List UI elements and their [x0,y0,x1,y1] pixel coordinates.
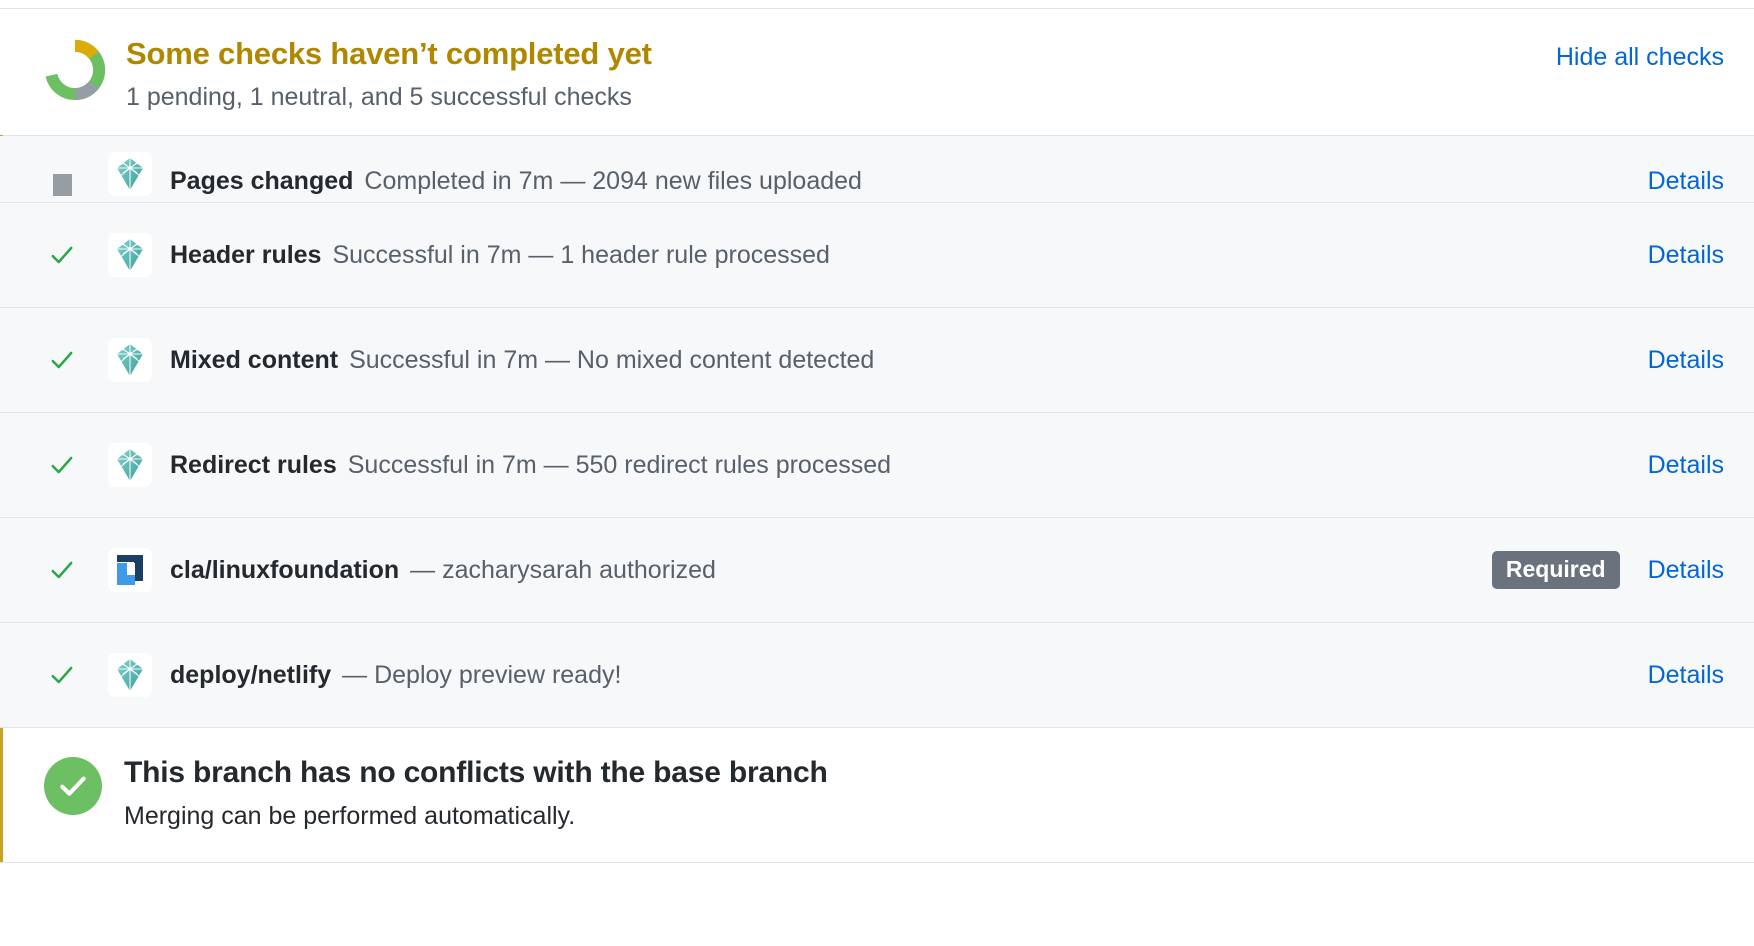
check-description: deploy/netlify— Deploy preview ready! [170,661,1648,690]
success-check-icon [49,452,75,478]
merge-status-section: This branch has no conflicts with the ba… [0,728,1754,862]
check-description: Redirect rulesSuccessful in 7m — 550 red… [170,451,1648,480]
check-row[interactable]: Mixed contentSuccessful in 7m — No mixed… [0,308,1754,413]
check-app-avatar [108,233,152,277]
neutral-status-icon [53,174,72,196]
pull-request-merge-panel: Some checks haven’t completed yet 1 pend… [0,0,1754,946]
check-description: Mixed contentSuccessful in 7m — No mixed… [170,346,1648,375]
check-name: deploy/netlify [170,661,331,689]
success-check-icon [49,242,75,268]
check-app-avatar [108,338,152,382]
check-status-icon [44,557,80,583]
checks-summary-text: Some checks haven’t completed yet 1 pend… [126,35,1556,113]
netlify-icon [110,445,150,485]
check-status-icon [44,174,80,196]
check-details-link[interactable]: Details [1648,661,1724,690]
check-name: Mixed content [170,346,338,374]
check-name: Header rules [170,241,321,269]
check-status-icon [44,452,80,478]
merge-status-title: This branch has no conflicts with the ba… [124,754,1724,792]
check-app-avatar [108,152,152,196]
merge-status-text: This branch has no conflicts with the ba… [124,754,1724,832]
check-details-link[interactable]: Details [1648,241,1724,270]
linux-foundation-icon [110,550,150,590]
check-detail-text: Successful in 7m — No mixed content dete… [349,346,874,374]
checks-summary-subtitle: 1 pending, 1 neutral, and 5 successful c… [126,81,1556,114]
merge-status-subtitle: Merging can be performed automatically. [124,800,1724,833]
success-check-icon [49,557,75,583]
netlify-icon [110,235,150,275]
checks-summary-title: Some checks haven’t completed yet [126,35,1556,74]
netlify-icon [110,154,150,194]
merge-box: Some checks haven’t completed yet 1 pend… [0,8,1754,863]
check-row[interactable]: Redirect rulesSuccessful in 7m — 550 red… [0,413,1754,518]
check-row[interactable]: cla/linuxfoundation— zacharysarah author… [0,518,1754,623]
check-app-avatar [108,443,152,487]
hide-all-checks-link[interactable]: Hide all checks [1556,43,1724,72]
check-name: cla/linuxfoundation [170,556,399,584]
check-circle-icon [44,757,102,815]
check-row[interactable]: Pages changedCompleted in 7m — 2094 new … [0,136,1754,203]
status-badge: Required [1492,551,1620,589]
checks-progress-donut-icon [44,39,106,101]
check-row[interactable]: Header rulesSuccessful in 7m — 1 header … [0,203,1754,308]
check-app-avatar [108,548,152,592]
check-detail-text: Completed in 7m — 2094 new files uploade… [364,167,862,195]
check-description: Pages changedCompleted in 7m — 2094 new … [170,167,1648,196]
check-detail-text: — zacharysarah authorized [410,556,716,584]
check-details-link[interactable]: Details [1648,556,1724,585]
check-detail-text: Successful in 7m — 1 header rule process… [332,241,829,269]
checks-list: Pages changedCompleted in 7m — 2094 new … [0,135,1754,728]
check-status-icon [44,242,80,268]
check-name: Redirect rules [170,451,337,479]
check-description: cla/linuxfoundation— zacharysarah author… [170,556,1492,585]
check-status-icon [44,347,80,373]
check-row[interactable]: deploy/netlify— Deploy preview ready!Det… [0,623,1754,728]
netlify-icon [110,655,150,695]
check-description: Header rulesSuccessful in 7m — 1 header … [170,241,1648,270]
success-check-icon [49,662,75,688]
white-check-glyph [56,769,90,803]
success-check-icon [49,347,75,373]
check-detail-text: — Deploy preview ready! [342,661,621,689]
checks-summary-header: Some checks haven’t completed yet 1 pend… [0,9,1754,135]
check-app-avatar [108,653,152,697]
check-details-link[interactable]: Details [1648,451,1724,480]
check-name: Pages changed [170,167,353,195]
netlify-icon [110,340,150,380]
check-details-link[interactable]: Details [1648,346,1724,375]
check-status-icon [44,662,80,688]
check-details-link[interactable]: Details [1648,167,1724,196]
check-detail-text: Successful in 7m — 550 redirect rules pr… [348,451,891,479]
